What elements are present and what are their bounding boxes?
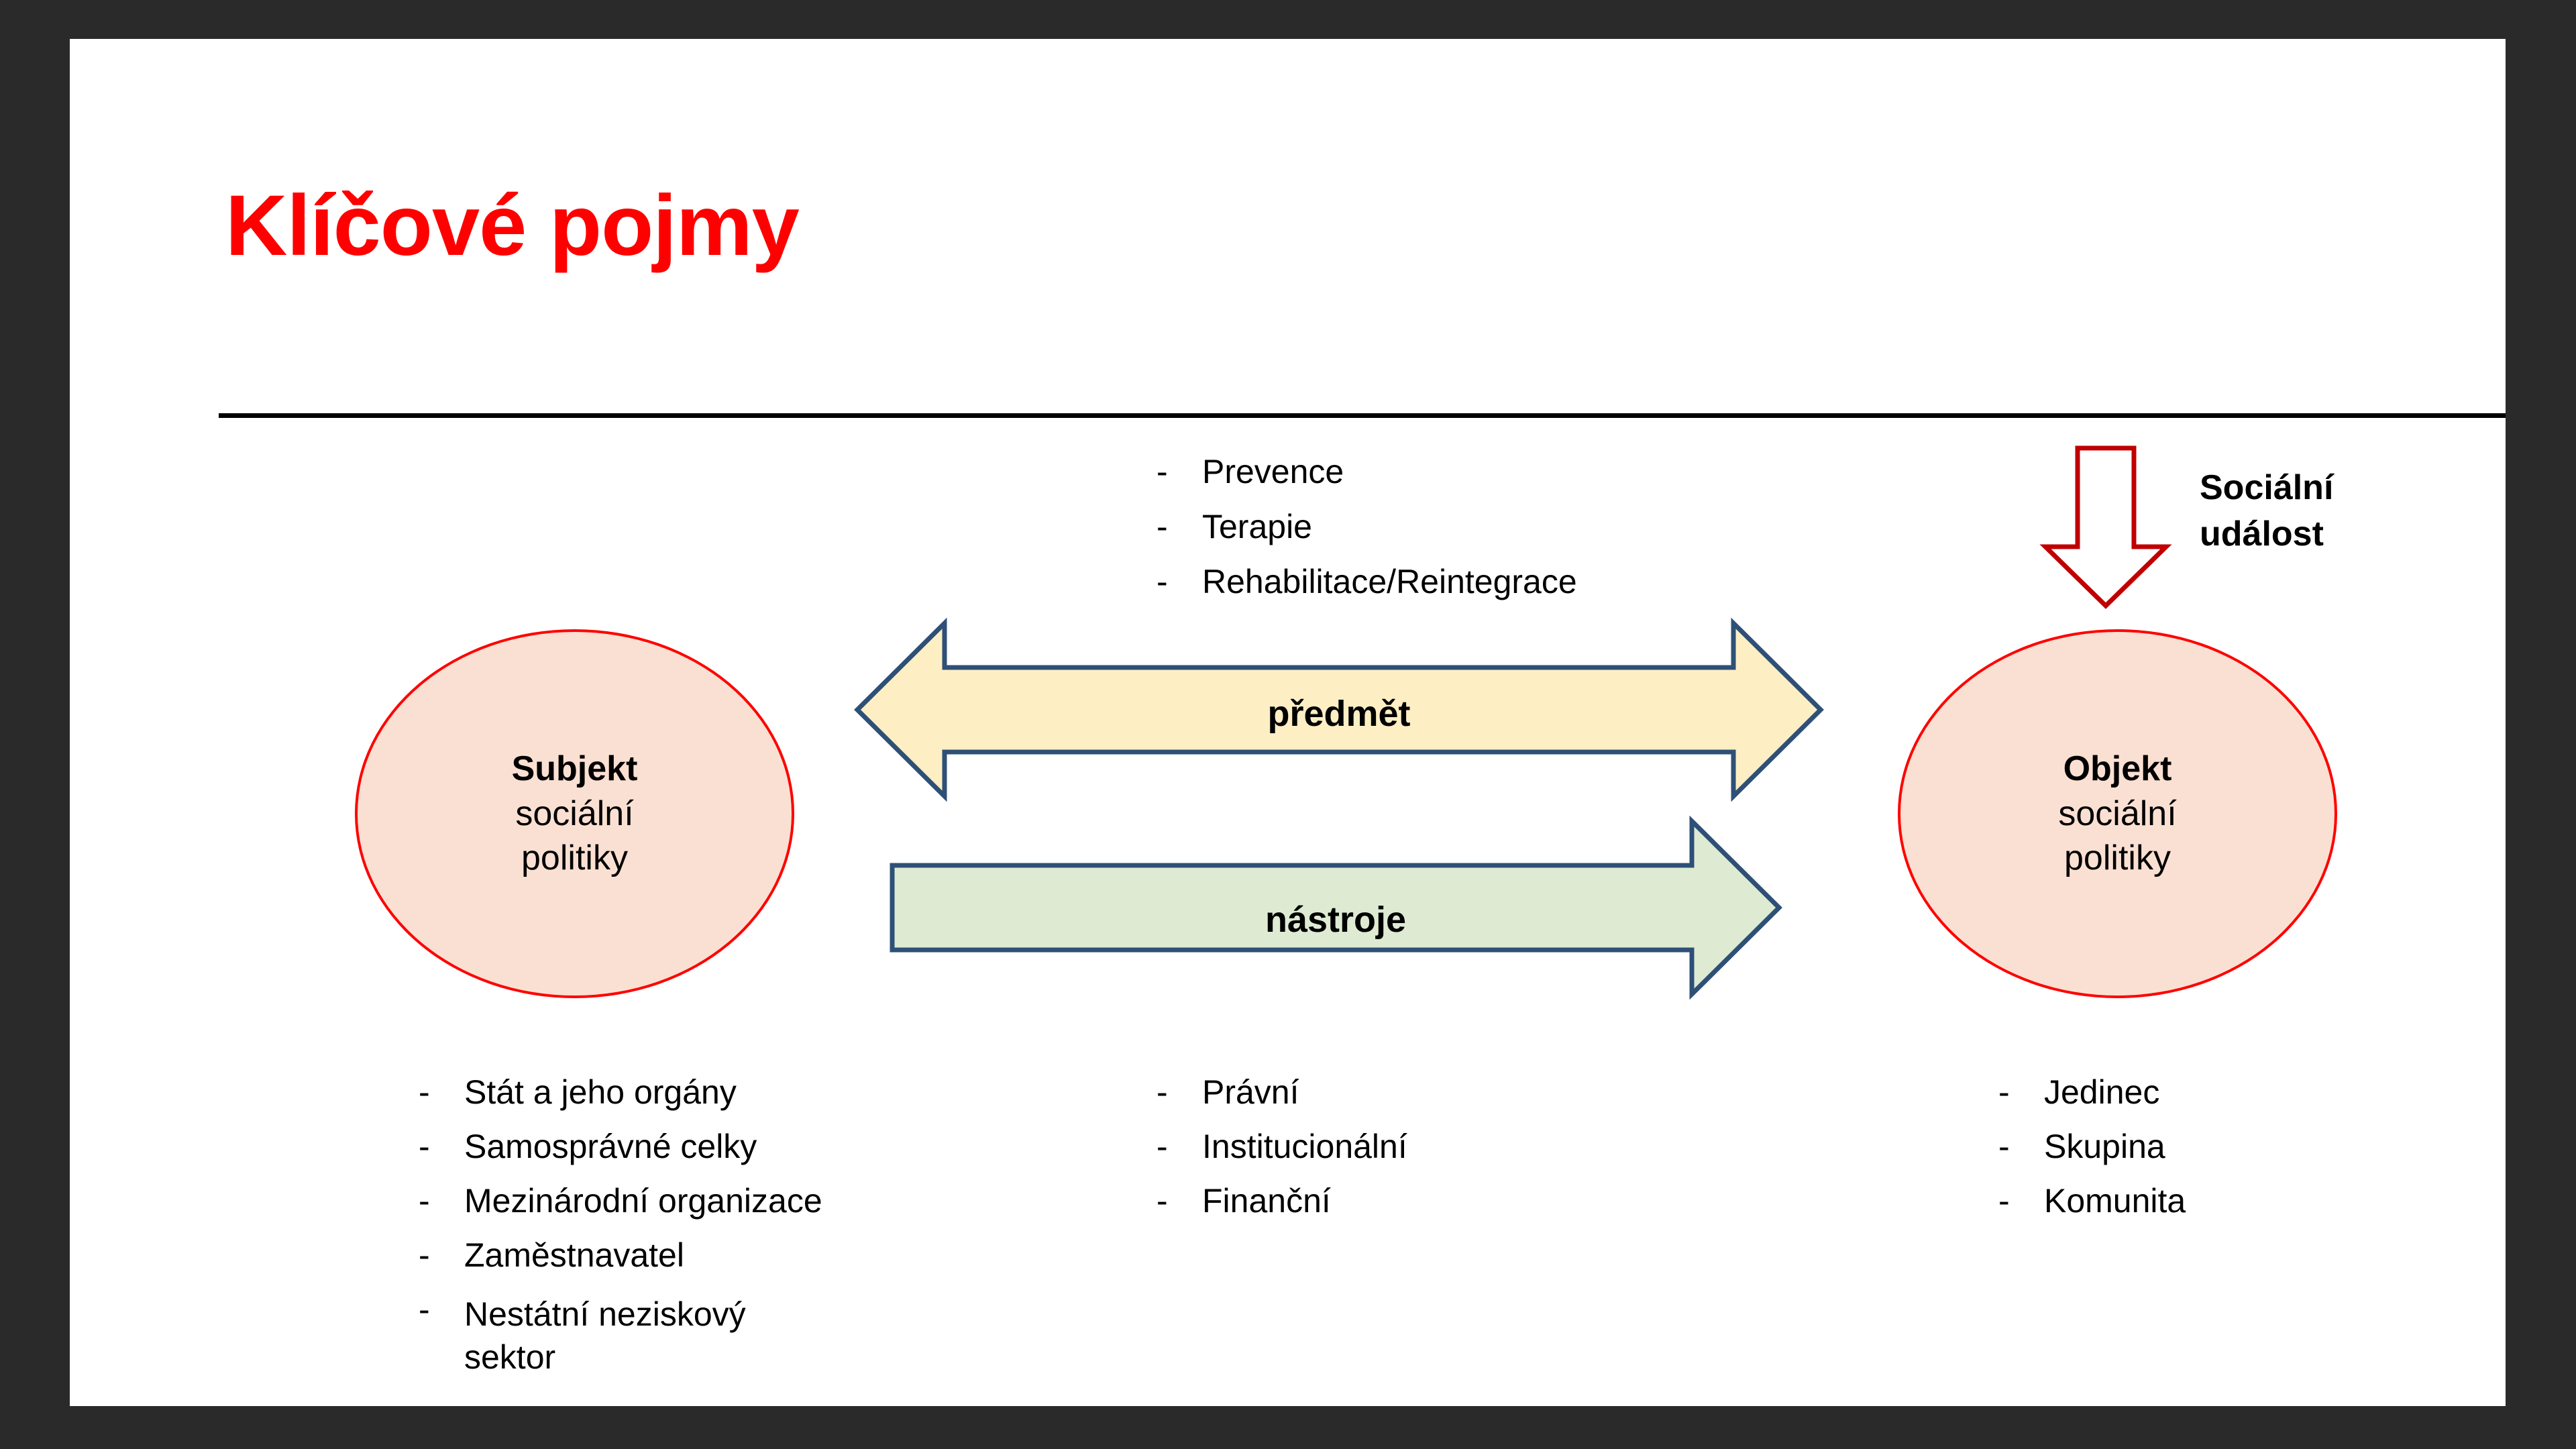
nastroje-arrow-label: nástroje [890, 899, 1782, 941]
list-item-label: Mezinárodní organizace [464, 1184, 822, 1218]
list-item-label: Stát a jeho orgány [464, 1075, 737, 1109]
socialni-udalost-arrow [2042, 445, 2169, 609]
list-item-label: Jedinec [2044, 1075, 2159, 1109]
bullet-dash: - [1998, 1130, 2044, 1163]
socialni-udalost-caption: Sociální událost [2200, 465, 2333, 557]
list-item-label: Zaměstnavatel [464, 1238, 684, 1272]
list-item: - Komunita [1998, 1184, 2186, 1218]
list-item-label: Finanční [1202, 1184, 1331, 1218]
list-item: - Jedinec [1998, 1075, 2186, 1109]
bullet-dash: - [1157, 1184, 1202, 1218]
predmet-arrow-label: předmět [855, 693, 1823, 735]
objekt-line-2: sociální [2058, 792, 2176, 837]
list-item-label: Institucionální [1202, 1130, 1407, 1163]
slide-canvas: Klíčové pojmy - Prevence - Terapie - Reh… [70, 39, 2506, 1406]
bullet-dash: - [1157, 455, 1202, 488]
list-item: - Terapie [1157, 510, 1577, 543]
subjekt-line-3: politiky [521, 836, 628, 881]
bullet-dash: - [1157, 1075, 1202, 1109]
list-item: - Právní [1157, 1075, 1407, 1109]
predmet-item-list: - Prevence - Terapie - Rehabilitace/Rein… [1157, 455, 1577, 620]
list-item: - Stát a jeho orgány [419, 1075, 822, 1109]
bullet-dash: - [419, 1293, 464, 1326]
list-item-label: Nestátní neziskový sektor [464, 1293, 746, 1379]
list-item: - Finanční [1157, 1184, 1407, 1218]
nastroje-item-list: - Právní - Institucionální - Finanční [1157, 1075, 1407, 1238]
list-item: - Nestátní neziskový sektor [419, 1293, 822, 1379]
bullet-dash: - [419, 1184, 464, 1218]
objekt-line-3: politiky [2064, 836, 2171, 881]
list-item: - Rehabilitace/Reintegrace [1157, 565, 1577, 598]
title-divider [219, 413, 2506, 418]
list-item: - Institucionální [1157, 1130, 1407, 1163]
list-item: - Zaměstnavatel [419, 1238, 822, 1272]
objekt-heading: Objekt [2063, 747, 2172, 792]
list-item-label: Rehabilitace/Reintegrace [1202, 565, 1577, 598]
list-item-label: Právní [1202, 1075, 1299, 1109]
list-item: - Skupina [1998, 1130, 2186, 1163]
subjekt-node: Subjekt sociální politiky [355, 629, 794, 998]
objekt-node: Objekt sociální politiky [1898, 629, 2337, 998]
objekt-item-list: - Jedinec - Skupina - Komunita [1998, 1075, 2186, 1238]
list-item-label: Skupina [2044, 1130, 2165, 1163]
bullet-dash: - [1157, 565, 1202, 598]
list-item: - Mezinárodní organizace [419, 1184, 822, 1218]
list-item-label: Prevence [1202, 455, 1344, 488]
list-item-label: Terapie [1202, 510, 1312, 543]
bullet-dash: - [419, 1130, 464, 1163]
subjekt-heading: Subjekt [512, 747, 638, 792]
bullet-dash: - [419, 1075, 464, 1109]
bullet-dash: - [1998, 1075, 2044, 1109]
bullet-dash: - [1157, 510, 1202, 543]
bullet-dash: - [1157, 1130, 1202, 1163]
bullet-dash: - [1998, 1184, 2044, 1218]
list-item: - Samosprávné celky [419, 1130, 822, 1163]
list-item-label: Samosprávné celky [464, 1130, 757, 1163]
page-title: Klíčové pojmy [225, 183, 799, 269]
subjekt-item-list: - Stát a jeho orgány - Samosprávné celky… [419, 1075, 822, 1399]
list-item: - Prevence [1157, 455, 1577, 488]
list-item-label: Komunita [2044, 1184, 2186, 1218]
bullet-dash: - [419, 1238, 464, 1272]
subjekt-line-2: sociální [515, 792, 633, 837]
